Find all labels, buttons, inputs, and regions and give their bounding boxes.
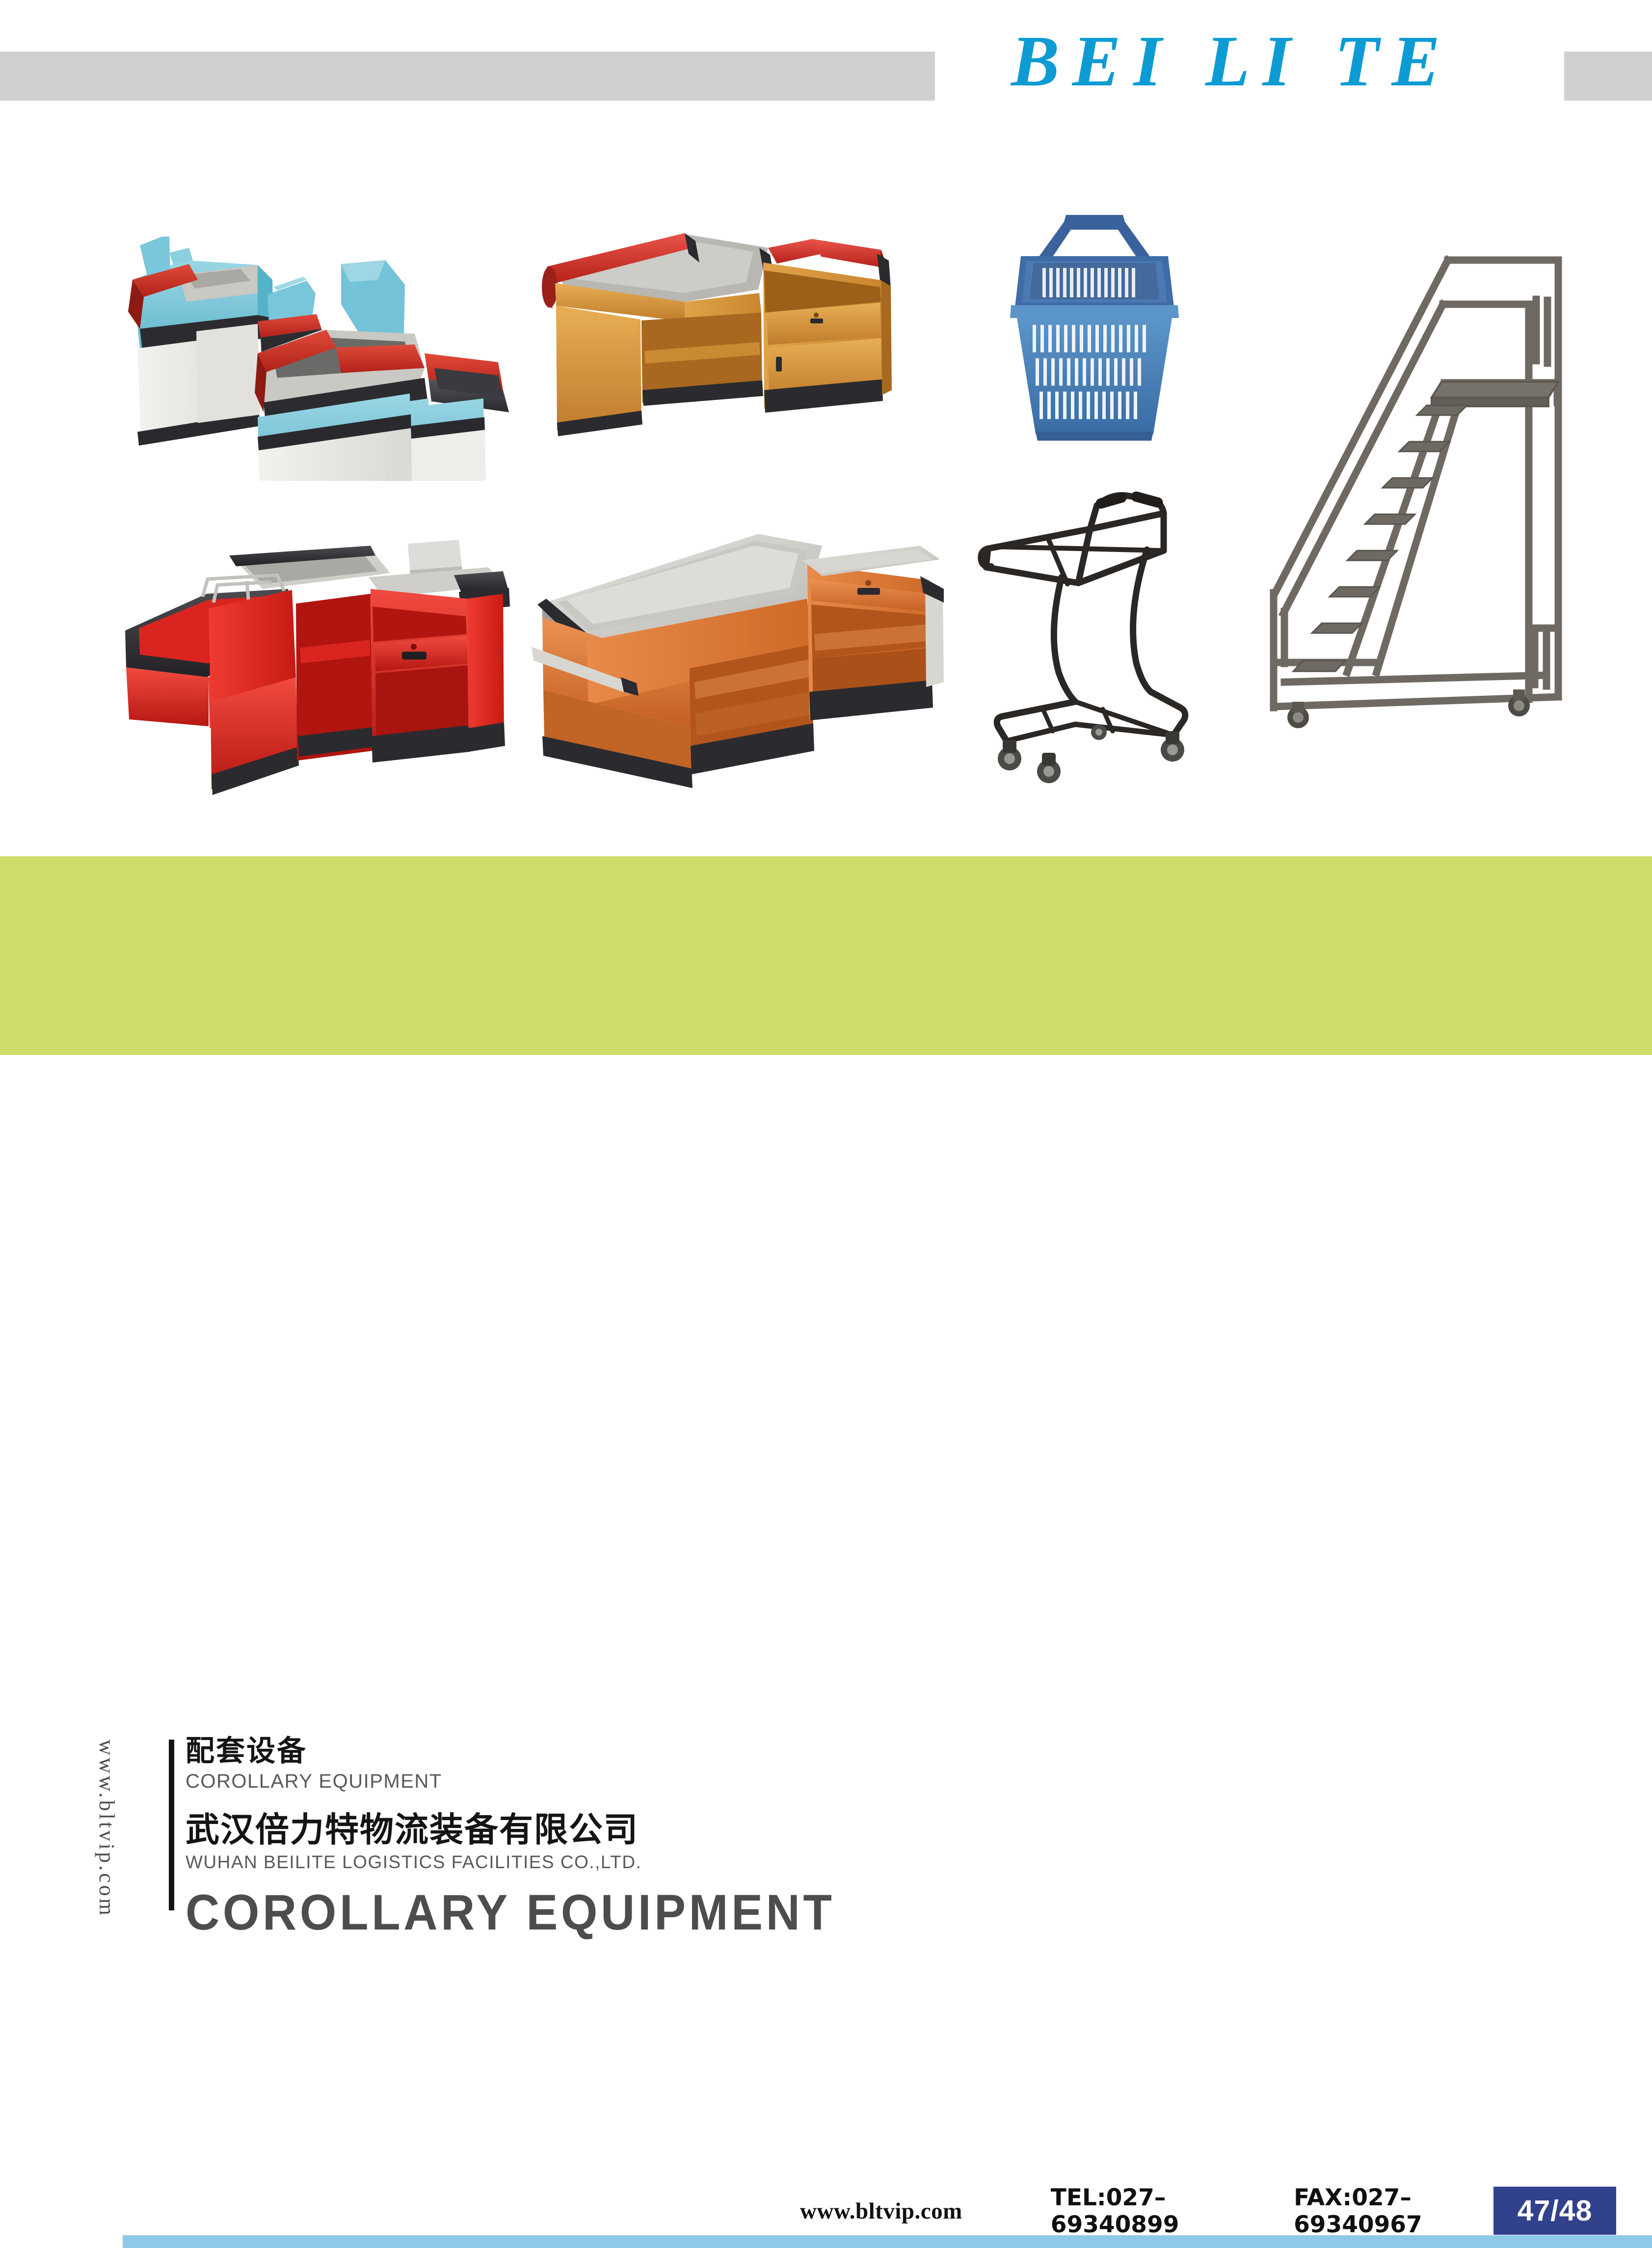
product-image-cashier-desk-ochre xyxy=(537,228,910,439)
footer-rule xyxy=(123,2235,1652,2248)
company-name-en: WUHAN BEILITE LOGISTICS FACILITIES CO.,L… xyxy=(186,1851,1609,1873)
footer-contact-row: www.bltvip.com TEL:027–69340899 FAX:027–… xyxy=(800,2196,1512,2226)
footer-fax: FAX:027–69340967 xyxy=(1294,2184,1512,2238)
section-title-en: COROLLARY EQUIPMENT xyxy=(186,1770,1609,1793)
company-name-cn: 武汉倍力特物流装备有限公司 xyxy=(186,1810,1609,1850)
section-headline: COROLLARY EQUIPMENT xyxy=(186,1886,1523,1939)
footer-website[interactable]: www.bltvip.com xyxy=(800,2198,962,2224)
product-image-checkout-counters-teal-red xyxy=(110,206,518,481)
product-image-checkout-counter-orange xyxy=(528,525,945,805)
product-image-shopping-basket-blue xyxy=(991,201,1198,451)
header-bar-right xyxy=(1564,52,1652,101)
page-number-badge: 47/48 xyxy=(1493,2187,1616,2235)
page-header: BEI LI TE xyxy=(0,0,1652,113)
product-image-basket-trolley-cart xyxy=(974,486,1215,790)
product-image-rolling-platform-ladder xyxy=(1254,240,1647,731)
header-bar-left xyxy=(0,52,935,101)
banner-divider xyxy=(169,1740,174,1910)
banner-vertical-url: www.bltvip.com xyxy=(89,1740,124,1887)
product-gallery xyxy=(0,123,1652,849)
banner-text-block: 配套设备 COROLLARY EQUIPMENT 武汉倍力特物流装备有限公司 W… xyxy=(186,1735,1609,1911)
section-title-cn: 配套设备 xyxy=(186,1735,1609,1767)
footer-telephone: TEL:027–69340899 xyxy=(1051,2184,1266,2238)
section-banner: www.bltvip.com 配套设备 COROLLARY EQUIPMENT … xyxy=(0,856,1652,1055)
product-image-checkout-counter-red xyxy=(115,530,513,805)
page-footer: www.bltvip.com TEL:027–69340899 FAX:027–… xyxy=(0,1055,1652,1217)
brand-logo: BEI LI TE xyxy=(1011,20,1536,103)
